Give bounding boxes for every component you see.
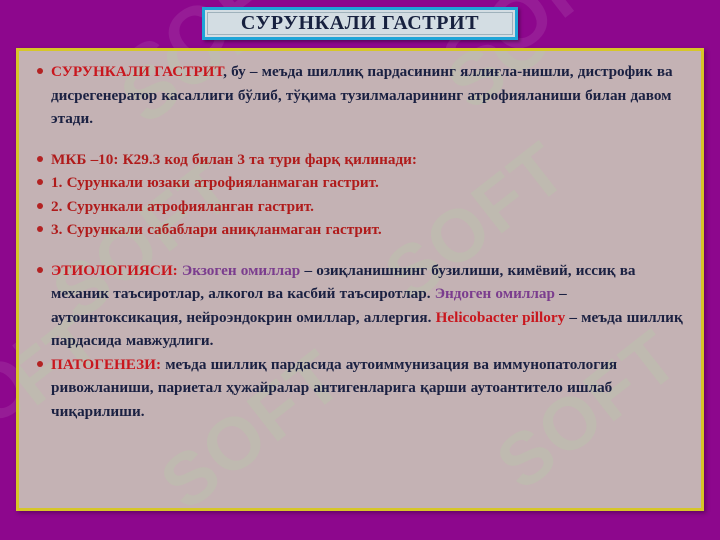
- bullet-marker-icon: [29, 171, 51, 185]
- bullet-item-pathogenesis: ПАТОГЕНЕЗИ: меъда шиллиқ пардасида аутои…: [29, 353, 687, 424]
- bullet-marker-icon: [29, 195, 51, 209]
- bullet-text-pathogenesis: ПАТОГЕНЕЗИ: меъда шиллиқ пардасида аутои…: [51, 353, 687, 424]
- bullet-marker-icon: [29, 353, 51, 367]
- bullet-text-type-3: 3. Сурункали сабаблари аниқланмаган гаст…: [51, 218, 687, 242]
- slide-title-box: СУРУНКАЛИ ГАСТРИТ: [202, 7, 518, 40]
- etiology-endogenous-term: Эндоген омиллар: [435, 285, 555, 302]
- bullet-text-type-1: 1. Сурункали юзаки атрофияланмаган гастр…: [51, 171, 687, 195]
- bullet-marker-icon: [29, 60, 51, 74]
- bullet-item-type-1: 1. Сурункали юзаки атрофияланмаган гастр…: [29, 171, 687, 195]
- bullet-list: СУРУНКАЛИ ГАСТРИТ, бу – меъда шиллиқ пар…: [19, 51, 701, 423]
- etiology-helicobacter-term: Helicobacter pillory: [436, 309, 566, 326]
- etiology-exogenous-term: Экзоген омиллар: [182, 262, 300, 279]
- pathogenesis-label: ПАТОГЕНЕЗИ:: [51, 356, 161, 373]
- bullet-marker-icon: [29, 259, 51, 273]
- bullet-text-definition: СУРУНКАЛИ ГАСТРИТ, бу – меъда шиллиқ пар…: [51, 60, 687, 131]
- page-title: СУРУНКАЛИ ГАСТРИТ: [241, 12, 479, 35]
- bullet-text-etiology: ЭТИОЛОГИЯСИ: Экзоген омиллар – озиқланиш…: [51, 259, 687, 353]
- bullet-item-type-3: 3. Сурункали сабаблари аниқланмаган гаст…: [29, 218, 687, 242]
- bullet-item-type-2: 2. Сурункали атрофияланган гастрит.: [29, 195, 687, 219]
- etiology-label: ЭТИОЛОГИЯСИ:: [51, 262, 178, 279]
- definition-term: СУРУНКАЛИ ГАСТРИТ: [51, 63, 223, 80]
- bullet-item-etiology: ЭТИОЛОГИЯСИ: Экзоген омиллар – озиқланиш…: [29, 259, 687, 353]
- slide-canvas: SOFT SOFT SOFT SOFT SOFT SOFT SOFT СУРУН…: [0, 0, 720, 540]
- bullet-marker-icon: [29, 148, 51, 162]
- bullet-item-definition: СУРУНКАЛИ ГАСТРИТ, бу – меъда шиллиқ пар…: [29, 60, 687, 131]
- bullet-text-mkb10: МКБ –10: К29.3 код билан 3 та тури фарқ …: [51, 148, 687, 172]
- bullet-item-mkb10: МКБ –10: К29.3 код билан 3 та тури фарқ …: [29, 148, 687, 172]
- content-panel: SOFT SOFT SOFT SOFT SOFT SOFT SOFT СУРУН…: [16, 48, 704, 511]
- bullet-text-type-2: 2. Сурункали атрофияланган гастрит.: [51, 195, 687, 219]
- bullet-marker-icon: [29, 218, 51, 232]
